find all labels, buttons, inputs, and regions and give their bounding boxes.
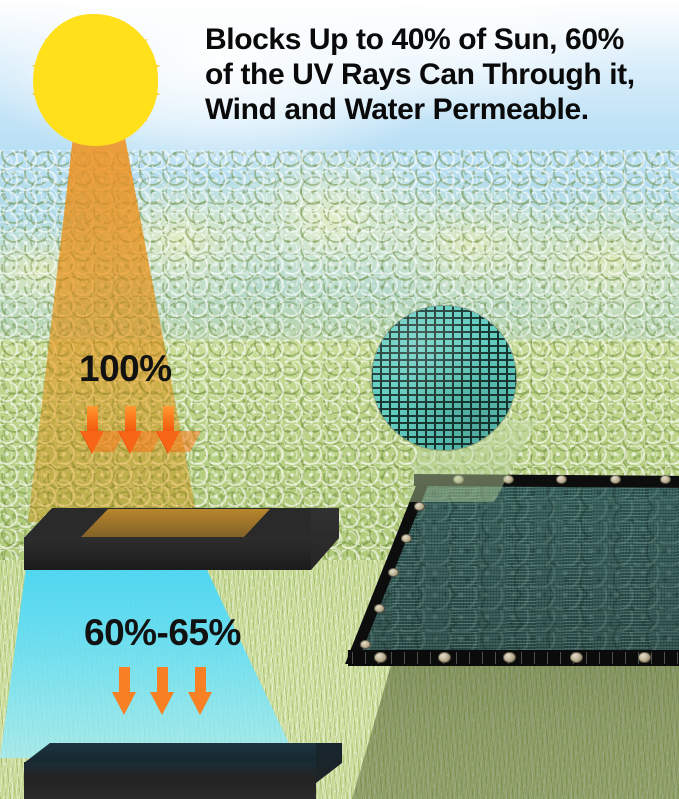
stitch-mark xyxy=(599,652,600,664)
arrow-head xyxy=(188,692,212,715)
arrow-head xyxy=(112,692,136,715)
slab-bottom-right-face xyxy=(316,743,342,799)
down-arrow-icon xyxy=(188,667,212,715)
grommet xyxy=(401,534,412,543)
arrow-shaft xyxy=(119,667,130,694)
stitch-mark xyxy=(521,652,522,664)
shade-cloth-panel xyxy=(348,478,679,678)
grommet xyxy=(610,475,621,484)
stitch-mark xyxy=(651,652,652,664)
barrier-slab-bottom xyxy=(24,743,342,799)
down-arrow-icon xyxy=(150,667,174,715)
down-arrow-icon xyxy=(156,406,180,454)
incoming-light-arrows xyxy=(80,406,180,454)
headline: Blocks Up to 40% of Sun, 60% of the UV R… xyxy=(205,22,665,127)
sun-icon xyxy=(6,0,186,167)
headline-line-2: of the UV Rays Can Through it, xyxy=(205,57,665,92)
stitch-mark xyxy=(456,652,457,664)
grommet xyxy=(388,568,399,577)
stitch-mark xyxy=(404,652,405,664)
arrow-head xyxy=(156,431,180,454)
grommet xyxy=(438,652,451,663)
stitch-mark xyxy=(664,652,665,664)
stitch-mark xyxy=(495,652,496,664)
grommet xyxy=(374,604,385,613)
arrow-shaft xyxy=(87,406,98,433)
mesh-weave-closeup xyxy=(372,306,516,450)
stitch-mark xyxy=(365,652,366,664)
stitch-mark xyxy=(391,652,392,664)
slab-bottom-top-face xyxy=(24,743,342,763)
cloth-mottle-texture xyxy=(348,478,679,678)
infographic-canvas: 100% 60%-65% Blocks Up to 40% of Sun, 60… xyxy=(0,0,679,799)
stitch-mark xyxy=(547,652,548,664)
magnifier-glass-shading xyxy=(372,306,516,450)
slab-bottom-front-face xyxy=(24,762,316,799)
down-arrow-icon xyxy=(112,667,136,715)
stitch-mark xyxy=(677,652,678,664)
down-arrow-icon xyxy=(80,406,104,454)
headline-line-1: Blocks Up to 40% of Sun, 60% xyxy=(205,22,665,57)
arrow-head xyxy=(118,431,142,454)
transmitted-light-arrows xyxy=(112,667,212,715)
stitch-mark xyxy=(586,652,587,664)
arrow-shaft xyxy=(163,406,174,433)
slab-right-face xyxy=(311,508,339,570)
grommet xyxy=(660,475,671,484)
transmitted-light-label: 60%-65% xyxy=(84,612,241,654)
stitch-mark xyxy=(417,652,418,664)
stitch-mark xyxy=(534,652,535,664)
arrow-shaft xyxy=(157,667,168,694)
barrier-slab-top xyxy=(24,508,339,570)
arrow-head xyxy=(80,431,104,454)
stitch-mark xyxy=(352,652,353,664)
arrow-shaft xyxy=(125,406,136,433)
stitch-mark xyxy=(612,652,613,664)
slab-sunlit-patch xyxy=(80,509,270,538)
stitch-mark xyxy=(625,652,626,664)
grommet xyxy=(360,640,371,649)
grommet xyxy=(414,502,425,511)
slab-front-face xyxy=(24,537,339,570)
grommet xyxy=(570,652,583,663)
sun-disc xyxy=(33,14,158,146)
stitch-mark xyxy=(482,652,483,664)
arrow-head xyxy=(150,692,174,715)
stitch-mark xyxy=(560,652,561,664)
grommet xyxy=(503,652,516,663)
grommet xyxy=(638,652,651,663)
headline-line-3: Wind and Water Permeable. xyxy=(205,92,665,127)
stitch-mark xyxy=(430,652,431,664)
stitch-mark xyxy=(469,652,470,664)
grommet xyxy=(556,475,567,484)
grommet xyxy=(374,652,387,663)
arrow-shaft xyxy=(195,667,206,694)
down-arrow-icon xyxy=(118,406,142,454)
incoming-light-label: 100% xyxy=(79,348,172,390)
